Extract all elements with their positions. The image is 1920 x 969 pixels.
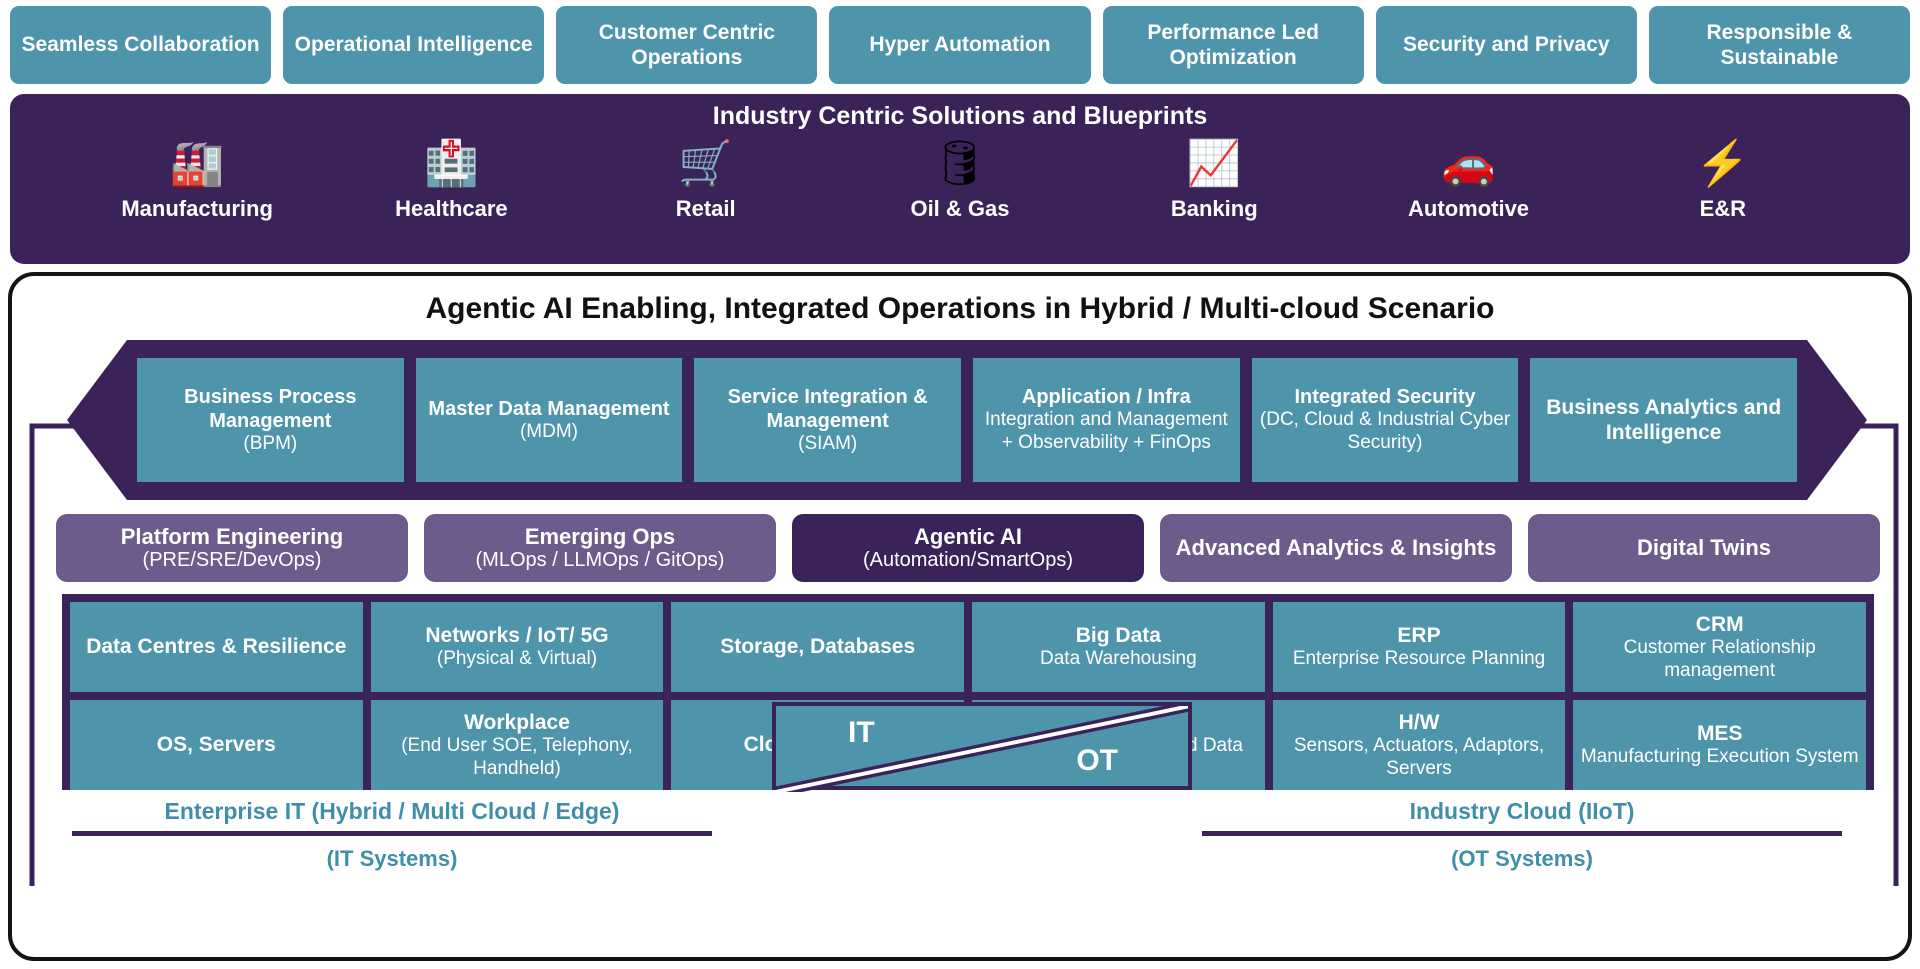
box-secondary-text: Enterprise Resource Planning	[1293, 648, 1545, 671]
box-secondary-text: Manufacturing Execution System	[1581, 746, 1859, 769]
box-secondary-text: (Physical & Virtual)	[437, 648, 597, 671]
industry-item-label: Retail	[676, 196, 736, 222]
industry-item-label: Banking	[1171, 196, 1258, 222]
industry-item-5[interactable]: 🚗Automotive	[1341, 136, 1595, 258]
box-primary-text: Service Integration & Management	[700, 385, 955, 433]
oil-rig-icon: 🛢	[932, 136, 988, 192]
capability-pill-row: Seamless CollaborationOperational Intell…	[10, 6, 1910, 84]
energy-bolt-icon: ⚡	[1695, 136, 1750, 192]
chevron-box-2[interactable]: Service Integration & Management(SIAM)	[694, 358, 961, 482]
box-primary-text: Networks / IoT/ 5G	[425, 623, 608, 648]
it-ot-diagonal-icon	[776, 706, 1188, 792]
industry-item-6[interactable]: ⚡E&R	[1596, 136, 1850, 258]
industry-item-label: E&R	[1700, 196, 1746, 222]
box-primary-text: Platform Engineering	[121, 524, 343, 549]
capability-pill-4[interactable]: Performance Led Optimization	[1103, 6, 1364, 84]
infra-cell-r1-3[interactable]: Big DataData Warehousing	[972, 602, 1265, 692]
it-label: IT	[848, 716, 875, 750]
chevron-box-3[interactable]: Application / InfraIntegration and Manag…	[973, 358, 1240, 482]
hospital-icon: 🏥	[424, 136, 479, 192]
box-primary-text: MES	[1697, 721, 1743, 746]
industry-item-3[interactable]: 🛢Oil & Gas	[833, 136, 1087, 258]
ops-box-0[interactable]: Platform Engineering(PRE/SRE/DevOps)	[56, 514, 408, 582]
box-secondary-text: Customer Relationship management	[1579, 637, 1860, 683]
box-primary-text: Master Data Management	[428, 397, 669, 421]
infra-cell-r2-5[interactable]: MESManufacturing Execution System	[1573, 700, 1866, 790]
infra-cell-r1-4[interactable]: ERPEnterprise Resource Planning	[1273, 602, 1566, 692]
ot-label: OT	[1076, 744, 1118, 778]
capability-pill-3[interactable]: Hyper Automation	[829, 6, 1090, 84]
footer-right-divider	[1202, 831, 1842, 836]
chevron-box-0[interactable]: Business Process Management(BPM)	[137, 358, 404, 482]
diagram-canvas: Seamless CollaborationOperational Intell…	[0, 0, 1920, 969]
box-primary-text: Emerging Ops	[525, 524, 675, 549]
ops-box-2[interactable]: Agentic AI(Automation/SmartOps)	[792, 514, 1144, 582]
box-primary-text: Workplace	[464, 710, 570, 735]
box-primary-text: Agentic AI	[914, 524, 1022, 549]
industry-item-label: Oil & Gas	[910, 196, 1009, 222]
box-primary-text: Digital Twins	[1637, 535, 1771, 560]
main-panel-title: Agentic AI Enabling, Integrated Operatio…	[12, 292, 1908, 326]
industry-item-row: 🏭Manufacturing🏥Healthcare🛒Retail🛢Oil & G…	[70, 136, 1850, 258]
chevron-box-row: Business Process Management(BPM)Master D…	[137, 358, 1797, 482]
box-primary-text: ERP	[1397, 623, 1440, 648]
industry-item-4[interactable]: 📈Banking	[1087, 136, 1341, 258]
box-secondary-text: Integration and Management + Observabili…	[979, 409, 1234, 455]
chevron-box-5[interactable]: Business Analytics and Intelligence	[1530, 358, 1797, 482]
box-secondary-text: (MDM)	[520, 421, 578, 444]
box-primary-text: Big Data	[1076, 623, 1161, 648]
capability-pill-2[interactable]: Customer Centric Operations	[556, 6, 817, 84]
factory-icon: 🏭	[170, 136, 225, 192]
ops-capability-row: Platform Engineering(PRE/SRE/DevOps)Emer…	[56, 514, 1880, 582]
ops-box-1[interactable]: Emerging Ops(MLOps / LLMOps / GitOps)	[424, 514, 776, 582]
footer-left-divider	[72, 831, 712, 836]
box-primary-text: OS, Servers	[157, 732, 276, 757]
ops-box-4[interactable]: Digital Twins	[1528, 514, 1880, 582]
industry-item-label: Automotive	[1408, 196, 1529, 222]
infra-cell-r1-2[interactable]: Storage, Databases	[671, 602, 964, 692]
box-secondary-text: (MLOps / LLMOps / GitOps)	[476, 549, 725, 572]
industry-item-1[interactable]: 🏥Healthcare	[324, 136, 578, 258]
industry-item-label: Healthcare	[395, 196, 508, 222]
infra-cell-r2-0[interactable]: OS, Servers	[70, 700, 363, 790]
box-primary-text: Data Centres & Resilience	[86, 634, 346, 659]
box-primary-text: Business Analytics and Intelligence	[1536, 395, 1791, 445]
growth-chart-icon: 📈	[1187, 136, 1242, 192]
main-panel: Agentic AI Enabling, Integrated Operatio…	[8, 272, 1912, 961]
chevron-box-4[interactable]: Integrated Security(DC, Cloud & Industri…	[1252, 358, 1519, 482]
box-secondary-text: (DC, Cloud & Industrial Cyber Security)	[1258, 409, 1513, 455]
box-secondary-text: Sensors, Actuators, Adaptors, Servers	[1279, 735, 1560, 781]
box-secondary-text: (Automation/SmartOps)	[863, 549, 1073, 572]
box-primary-text: Application / Infra	[1022, 385, 1191, 409]
footer-left-subtitle: (IT Systems)	[72, 846, 712, 872]
car-icon: 🚗	[1441, 136, 1496, 192]
box-primary-text: Business Process Management	[143, 385, 398, 433]
industry-band: Industry Centric Solutions and Blueprint…	[10, 94, 1910, 264]
shopping-cart-icon: 🛒	[678, 136, 733, 192]
industry-item-2[interactable]: 🛒Retail	[579, 136, 833, 258]
footer-right-title: Industry Cloud (IIoT)	[1202, 798, 1842, 825]
box-primary-text: Integrated Security	[1294, 385, 1475, 409]
footer-right-subtitle: (OT Systems)	[1202, 846, 1842, 872]
industry-item-0[interactable]: 🏭Manufacturing	[70, 136, 324, 258]
chevron-band: Business Process Management(BPM)Master D…	[67, 340, 1867, 500]
capability-pill-5[interactable]: Security and Privacy	[1376, 6, 1637, 84]
box-primary-text: CRM	[1696, 612, 1744, 637]
chevron-box-1[interactable]: Master Data Management(MDM)	[416, 358, 683, 482]
it-ot-split-box: IT OT	[772, 702, 1192, 790]
footer-left-title: Enterprise IT (Hybrid / Multi Cloud / Ed…	[72, 798, 712, 825]
capability-pill-0[interactable]: Seamless Collaboration	[10, 6, 271, 84]
industry-item-label: Manufacturing	[121, 196, 273, 222]
infra-cell-r2-4[interactable]: H/WSensors, Actuators, Adaptors, Servers	[1273, 700, 1566, 790]
industry-band-title: Industry Centric Solutions and Blueprint…	[10, 102, 1910, 131]
infra-cell-r1-0[interactable]: Data Centres & Resilience	[70, 602, 363, 692]
box-secondary-text: Data Warehousing	[1040, 648, 1197, 671]
infra-cell-r1-1[interactable]: Networks / IoT/ 5G(Physical & Virtual)	[371, 602, 664, 692]
box-secondary-text: (BPM)	[243, 433, 297, 456]
ops-box-3[interactable]: Advanced Analytics & Insights	[1160, 514, 1512, 582]
infrastructure-row-1: Data Centres & ResilienceNetworks / IoT/…	[70, 602, 1866, 692]
box-primary-text: H/W	[1399, 710, 1440, 735]
box-secondary-text: (PRE/SRE/DevOps)	[143, 549, 322, 572]
infra-cell-r1-5[interactable]: CRMCustomer Relationship management	[1573, 602, 1866, 692]
capability-pill-6[interactable]: Responsible & Sustainable	[1649, 6, 1910, 84]
footer-it-systems: Enterprise IT (Hybrid / Multi Cloud / Ed…	[72, 798, 712, 908]
box-primary-text: Storage, Databases	[720, 634, 915, 659]
box-secondary-text: (SIAM)	[798, 433, 857, 456]
box-primary-text: Advanced Analytics & Insights	[1176, 535, 1497, 560]
infra-cell-r2-1[interactable]: Workplace(End User SOE, Telephony, Handh…	[371, 700, 664, 790]
box-secondary-text: (End User SOE, Telephony, Handheld)	[377, 735, 658, 781]
footer-ot-systems: Industry Cloud (IIoT) (OT Systems)	[1202, 798, 1842, 908]
capability-pill-1[interactable]: Operational Intelligence	[283, 6, 544, 84]
